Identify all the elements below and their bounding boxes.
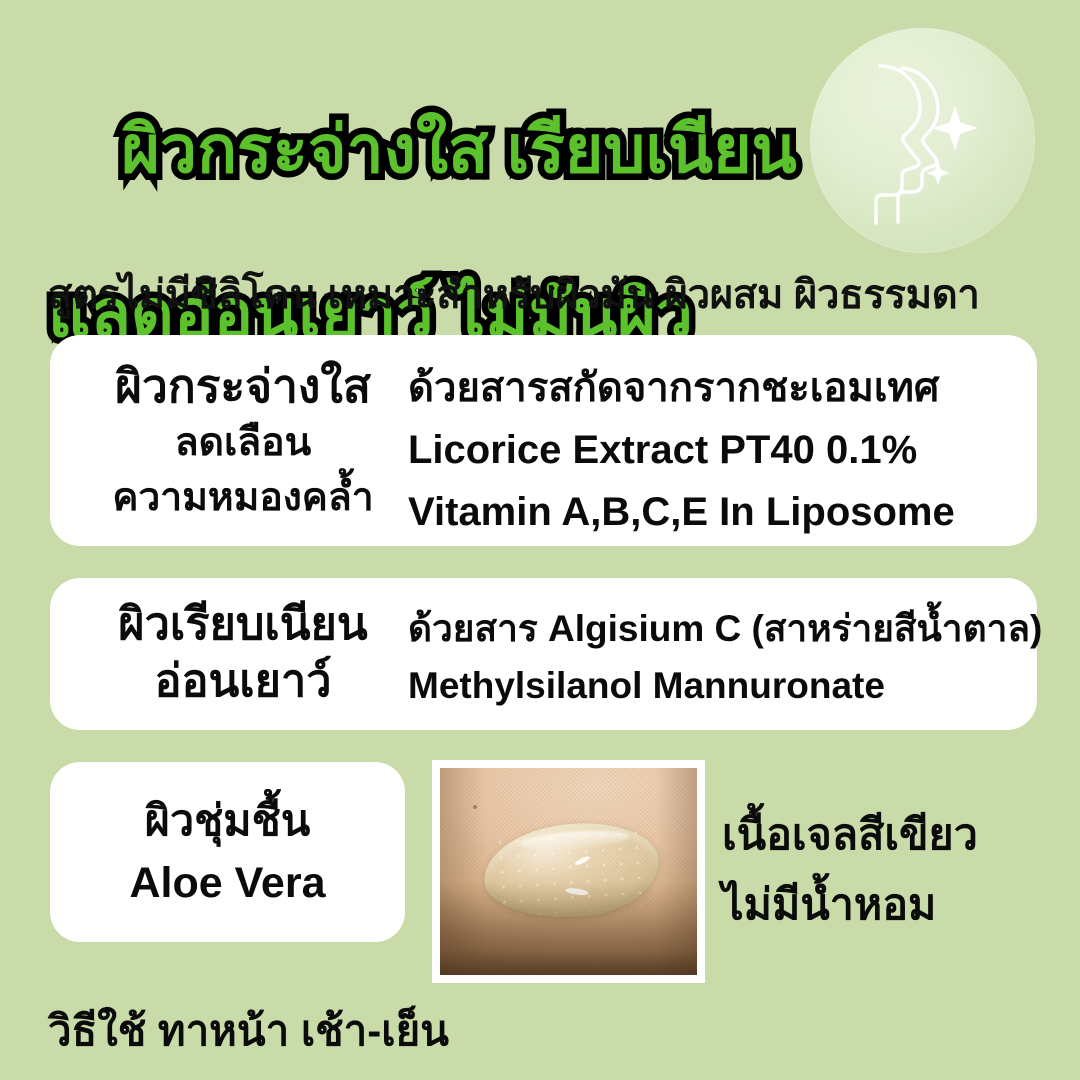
face-profile-sparkle-icon — [810, 28, 1035, 253]
card1-subtitle-2: ความหมองคล้ำ — [68, 470, 418, 525]
card3-subtitle-1: Aloe Vera — [50, 852, 405, 914]
card2-title: ผิวเรียบเนียน — [68, 596, 418, 652]
gel-description-line-1: เนื้อเจลสีเขียว — [722, 800, 1052, 870]
card2-ingredient-line-2: Methylsilanol Mannuronate — [408, 657, 1028, 714]
card2-left-column: ผิวเรียบเนียน อ่อนเยาว์ — [68, 596, 418, 710]
infographic-canvas: ผิวกระจ่างใส เรียบเนียน แลดูอ่อนเยาว์ ไม… — [0, 0, 1080, 1080]
benefit-card-smoothing: ผิวเรียบเนียน อ่อนเยาว์ ด้วยสาร Algisium… — [50, 578, 1037, 730]
gel-swatch-photo-frame — [432, 760, 705, 983]
card1-right-column: ด้วยสารสกัดจากรากชะเอมเทศ Licorice Extra… — [408, 357, 1028, 543]
benefit-card-brightening: ผิวกระจ่างใส ลดเลือน ความหมองคล้ำ ด้วยสา… — [50, 335, 1037, 546]
card1-ingredient-line-2: Licorice Extract PT40 0.1% — [408, 419, 1028, 481]
card1-title: ผิวกระจ่างใส — [68, 357, 418, 415]
card1-left-column: ผิวกระจ่างใส ลดเลือน ความหมองคล้ำ — [68, 357, 418, 525]
card1-ingredient-line-3: Vitamin A,B,C,E In Liposome — [408, 481, 1028, 543]
card2-right-column: ด้วยสาร Algisium C (สาหร่ายสีน้ำตาล) Met… — [408, 600, 1028, 714]
gel-swatch-on-skin-photo — [440, 768, 697, 975]
card3-left-column: ผิวชุ่มชื้น Aloe Vera — [50, 790, 405, 914]
subtitle: สูตรไม่มีซิลิโคน เหมาะสำหรับผิวมัน ผิวผส… — [48, 262, 980, 326]
card2-ingredient-line-1: ด้วยสาร Algisium C (สาหร่ายสีน้ำตาล) — [408, 600, 1028, 657]
usage-instruction: วิธีใช้ ทาหน้า เช้า-เย็น — [48, 998, 449, 1064]
photo-vignette — [440, 768, 697, 975]
gel-description: เนื้อเจลสีเขียว ไม่มีน้ำหอม — [722, 800, 1052, 940]
card3-title: ผิวชุ่มชื้น — [50, 790, 405, 852]
headline-line-1: ผิวกระจ่างใส เรียบเนียน — [121, 112, 796, 186]
card1-subtitle-1: ลดเลือน — [68, 415, 418, 470]
gel-description-line-2: ไม่มีน้ำหอม — [722, 870, 1052, 940]
card1-ingredient-line-1: ด้วยสารสกัดจากรากชะเอมเทศ — [408, 357, 1028, 419]
card2-subtitle-1: อ่อนเยาว์ — [68, 652, 418, 710]
benefit-card-moisturizing: ผิวชุ่มชื้น Aloe Vera — [50, 762, 405, 942]
